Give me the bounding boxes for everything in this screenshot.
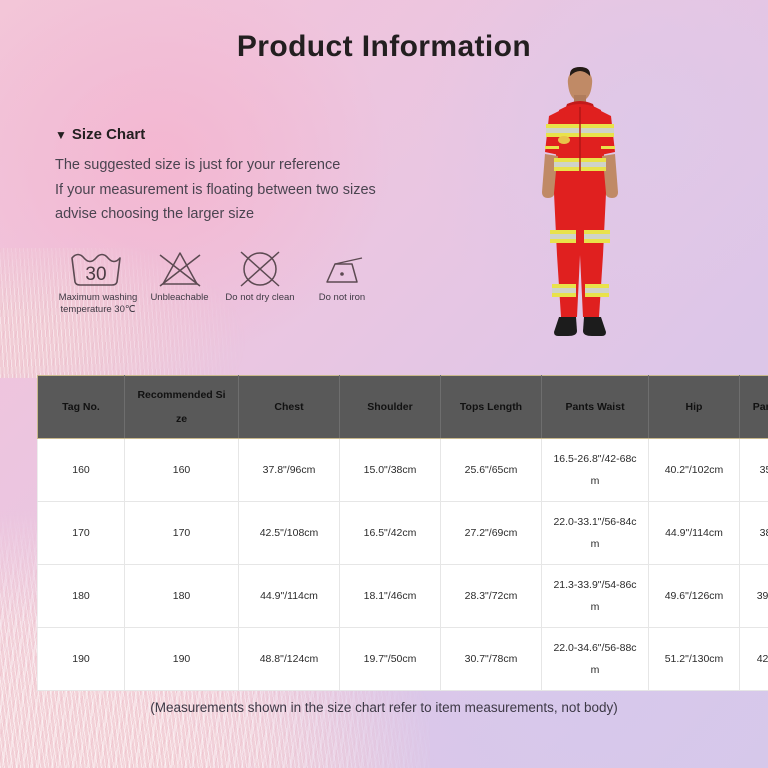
care-item-bleach: Unbleachable <box>141 248 218 304</box>
cell-chest: 48.8"/124cm <box>239 628 340 691</box>
size-chart-table: Tag No. Recommended Si ze Chest Shoulder… <box>37 375 768 691</box>
cell-pants-waist: 16.5-26.8"/42-68c m <box>542 439 649 502</box>
cell-recommended-size: 160 <box>125 439 239 502</box>
cell-pants-waist: 21.3-33.9"/54-86c m <box>542 565 649 628</box>
cell-pants-waist: 22.0-34.6"/56-88c m <box>542 628 649 691</box>
column-header-recommended-size: Recommended Si ze <box>125 376 239 439</box>
care-instructions-row: 30 Maximum washing temperature 30℃ Unble… <box>55 248 382 316</box>
table-body: 160 160 37.8"/96cm 15.0"/38cm 25.6"/65cm… <box>38 439 768 691</box>
table-row: 160 160 37.8"/96cm 15.0"/38cm 25.6"/65cm… <box>38 439 768 502</box>
column-header-chest: Chest <box>239 376 340 439</box>
no-dry-clean-icon <box>234 248 286 290</box>
do-not-iron-icon <box>315 248 369 290</box>
product-information-page: Product Information ▼ Size Chart The sug… <box>0 0 768 768</box>
size-chart-description: The suggested size is just for your refe… <box>55 153 376 227</box>
cell-tag-no: 180 <box>38 565 125 628</box>
column-header-shoulder: Shoulder <box>340 376 441 439</box>
table-row: 190 190 48.8"/124cm 19.7"/50cm 30.7"/78c… <box>38 628 768 691</box>
cell-tops-length: 30.7"/78cm <box>441 628 542 691</box>
svg-text:30: 30 <box>85 264 106 285</box>
cell-pants-length: 35.4"/90cm <box>740 439 768 502</box>
column-header-hip: Hip <box>649 376 740 439</box>
cell-tag-no: 160 <box>38 439 125 502</box>
column-header-tops-length: Tops Length <box>441 376 542 439</box>
table-row: 170 170 42.5"/108cm 16.5"/42cm 27.2"/69c… <box>38 502 768 565</box>
cell-pants-length: 39.4"/100cm <box>740 565 768 628</box>
cell-pants-waist: 22.0-33.1"/56-84c m <box>542 502 649 565</box>
cell-recommended-size: 190 <box>125 628 239 691</box>
cell-pants-length: 38.6"/98cm <box>740 502 768 565</box>
cell-hip: 40.2"/102cm <box>649 439 740 502</box>
care-label-bleach: Unbleachable <box>150 292 208 304</box>
cell-chest: 42.5"/108cm <box>239 502 340 565</box>
cell-shoulder: 18.1"/46cm <box>340 565 441 628</box>
description-line-2: If your measurement is floating between … <box>55 178 376 203</box>
cell-hip: 44.9"/114cm <box>649 502 740 565</box>
table-row: 180 180 44.9"/114cm 18.1"/46cm 28.3"/72c… <box>38 565 768 628</box>
cell-chest: 37.8"/96cm <box>239 439 340 502</box>
cell-chest: 44.9"/114cm <box>239 565 340 628</box>
column-header-tag-no: Tag No. <box>38 376 125 439</box>
wash-tub-30-icon: 30 <box>67 248 129 290</box>
care-item-wash: 30 Maximum washing temperature 30℃ <box>55 248 141 316</box>
care-label-wash: Maximum washing temperature 30℃ <box>59 292 138 316</box>
triangle-down-icon: ▼ <box>55 129 67 141</box>
column-header-pants-waist: Pants Waist <box>542 376 649 439</box>
no-bleach-icon <box>154 248 206 290</box>
care-label-iron: Do not iron <box>319 292 365 304</box>
description-line-1: The suggested size is just for your refe… <box>55 153 376 178</box>
cell-shoulder: 19.7"/50cm <box>340 628 441 691</box>
size-chart-heading[interactable]: ▼ Size Chart <box>55 126 145 143</box>
cell-hip: 49.6"/126cm <box>649 565 740 628</box>
cell-tops-length: 25.6"/65cm <box>441 439 542 502</box>
cell-recommended-size: 170 <box>125 502 239 565</box>
cell-pants-length: 42.1"/107cm <box>740 628 768 691</box>
cell-tops-length: 27.2"/69cm <box>441 502 542 565</box>
cell-tag-no: 190 <box>38 628 125 691</box>
cell-shoulder: 15.0"/38cm <box>340 439 441 502</box>
care-item-iron: Do not iron <box>302 248 382 304</box>
cell-shoulder: 16.5"/42cm <box>340 502 441 565</box>
description-line-3: advise choosing the larger size <box>55 202 376 227</box>
measurement-footnote: (Measurements shown in the size chart re… <box>0 700 768 715</box>
cell-hip: 51.2"/130cm <box>649 628 740 691</box>
care-item-dry-clean: Do not dry clean <box>218 248 302 304</box>
cell-tops-length: 28.3"/72cm <box>441 565 542 628</box>
size-chart-heading-label: Size Chart <box>72 126 145 143</box>
product-image <box>512 62 648 350</box>
care-label-dry-clean: Do not dry clean <box>225 292 294 304</box>
table-header-row: Tag No. Recommended Si ze Chest Shoulder… <box>38 376 768 439</box>
column-header-pants-length: Pants Length <box>740 376 768 439</box>
cell-tag-no: 170 <box>38 502 125 565</box>
cell-recommended-size: 180 <box>125 565 239 628</box>
page-title: Product Information <box>0 30 768 64</box>
